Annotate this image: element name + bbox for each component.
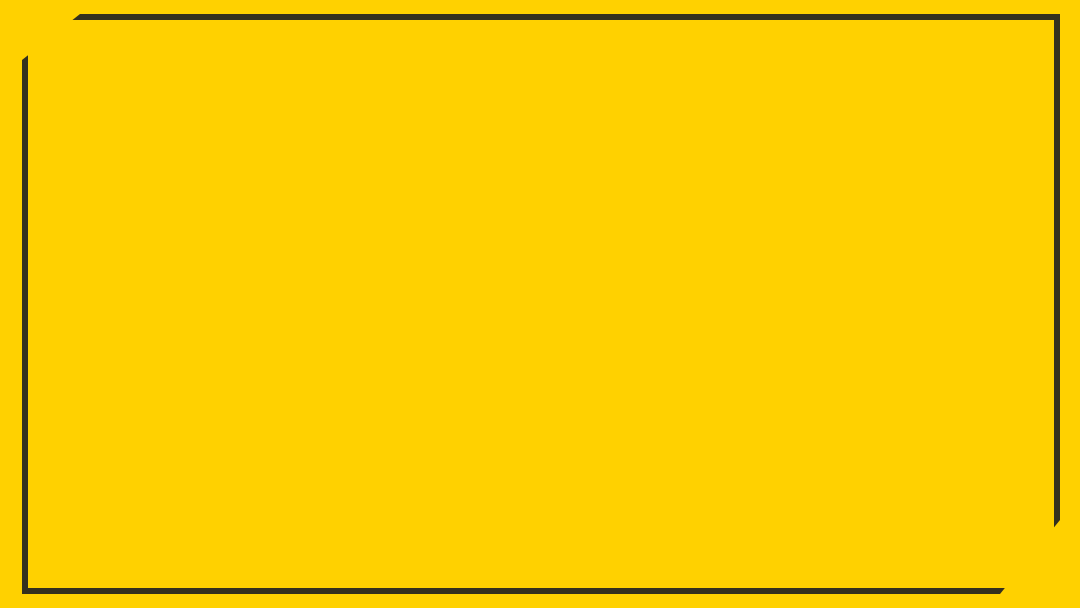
yellow-border-frame	[0, 0, 1080, 608]
poster-canvas: DRIVE DRIVE THE DREAM EXPERIENCE THE FUT…	[0, 0, 1080, 608]
